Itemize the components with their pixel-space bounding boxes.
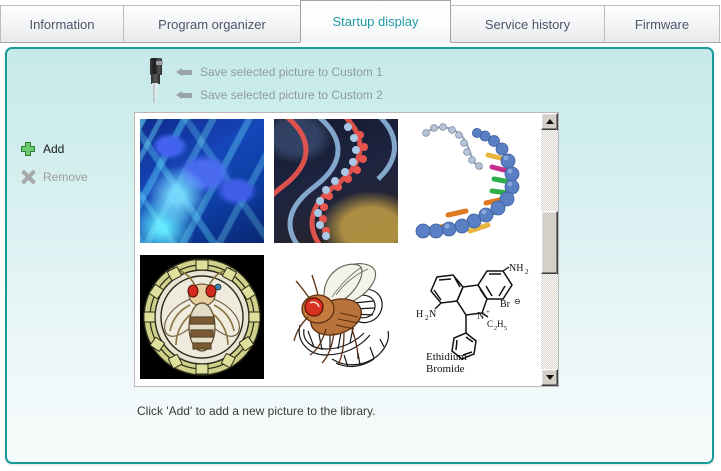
picture-grid: NH 2 H 2 N Br ⊖ N + C 2 H 5 — [135, 113, 541, 386]
thumbnail-stained-glass-fly[interactable] — [140, 255, 264, 379]
picture-item[interactable] — [135, 113, 269, 249]
library-hint-text: Click 'Add' to add a new picture to the … — [137, 404, 375, 418]
dna-helix-art — [274, 119, 398, 243]
tab-label: Firmware — [635, 17, 689, 32]
svg-text:+: + — [486, 308, 490, 316]
gallery-scrollbar[interactable] — [541, 113, 558, 386]
add-button-label: Add — [43, 142, 64, 156]
svg-text:NH: NH — [509, 263, 523, 274]
tab-information[interactable]: Information — [0, 5, 124, 43]
gray-x-icon — [20, 169, 38, 185]
scrollbar-thumb[interactable] — [541, 211, 558, 274]
thumbnail-dna-ball-and-stick[interactable] — [408, 119, 532, 243]
tab-label: Startup display — [333, 14, 419, 29]
ball-stick-dna-art — [408, 119, 532, 243]
thumbnail-fruit-fly-line-art[interactable] — [274, 255, 398, 379]
save-to-custom-1-label: Save selected picture to Custom 1 — [200, 65, 383, 79]
svg-text:Br: Br — [500, 299, 511, 310]
green-plus-icon — [20, 141, 38, 157]
scrollbar-up-button[interactable] — [541, 113, 558, 130]
remove-button-label: Remove — [43, 170, 88, 184]
svg-text:N: N — [429, 309, 436, 320]
tab-label: Service history — [485, 17, 570, 32]
svg-text:H: H — [497, 319, 504, 329]
arrow-left-icon — [176, 68, 192, 77]
save-to-custom-2-label: Save selected picture to Custom 2 — [200, 88, 383, 102]
picture-library[interactable]: NH 2 H 2 N Br ⊖ N + C 2 H 5 — [134, 112, 559, 387]
thumbnail-fluorescent-cells[interactable] — [140, 119, 264, 243]
triangle-down-icon — [546, 375, 554, 380]
picture-item[interactable] — [135, 249, 269, 385]
tab-label: Information — [29, 17, 94, 32]
svg-text:5: 5 — [504, 326, 507, 332]
tab-startup-display[interactable]: Startup display — [300, 0, 451, 43]
chemical-name-label: Ethidium Bromide — [426, 351, 467, 375]
arrow-left-icon — [176, 91, 192, 100]
fruit-fly-dna-art — [274, 255, 398, 379]
svg-text:H: H — [416, 309, 423, 320]
svg-text:⊖: ⊖ — [514, 297, 521, 306]
pipette-icon — [146, 58, 166, 106]
triangle-up-icon — [546, 119, 554, 124]
svg-text:N: N — [477, 311, 484, 322]
stained-glass-fly-art — [140, 255, 264, 379]
remove-button[interactable]: Remove — [20, 166, 125, 188]
picture-item[interactable]: NH 2 H 2 N Br ⊖ N + C 2 H 5 — [403, 249, 537, 385]
tab-bar: Information Program organizer Startup di… — [0, 0, 721, 43]
tab-service-history[interactable]: Service history — [450, 5, 605, 43]
tab-firmware[interactable]: Firmware — [604, 5, 720, 43]
save-to-custom-1-action[interactable]: Save selected picture to Custom 1 — [176, 64, 383, 80]
scrollbar-down-button[interactable] — [541, 369, 558, 386]
picture-item[interactable] — [269, 113, 403, 249]
picture-item[interactable] — [269, 249, 403, 385]
thumbnail-ethidium-bromide[interactable]: NH 2 H 2 N Br ⊖ N + C 2 H 5 — [408, 255, 532, 379]
tab-program-organizer[interactable]: Program organizer — [123, 5, 301, 43]
library-actions: Add Remove — [20, 138, 125, 194]
svg-text:2: 2 — [525, 268, 529, 276]
startup-display-screen: Information Program organizer Startup di… — [0, 0, 721, 471]
svg-text:C: C — [487, 319, 493, 329]
save-to-custom-2-action[interactable]: Save selected picture to Custom 2 — [176, 87, 383, 103]
thumbnail-dna-double-helix[interactable] — [274, 119, 398, 243]
add-button[interactable]: Add — [20, 138, 125, 160]
tab-label: Program organizer — [158, 17, 266, 32]
picture-item[interactable] — [403, 113, 537, 249]
